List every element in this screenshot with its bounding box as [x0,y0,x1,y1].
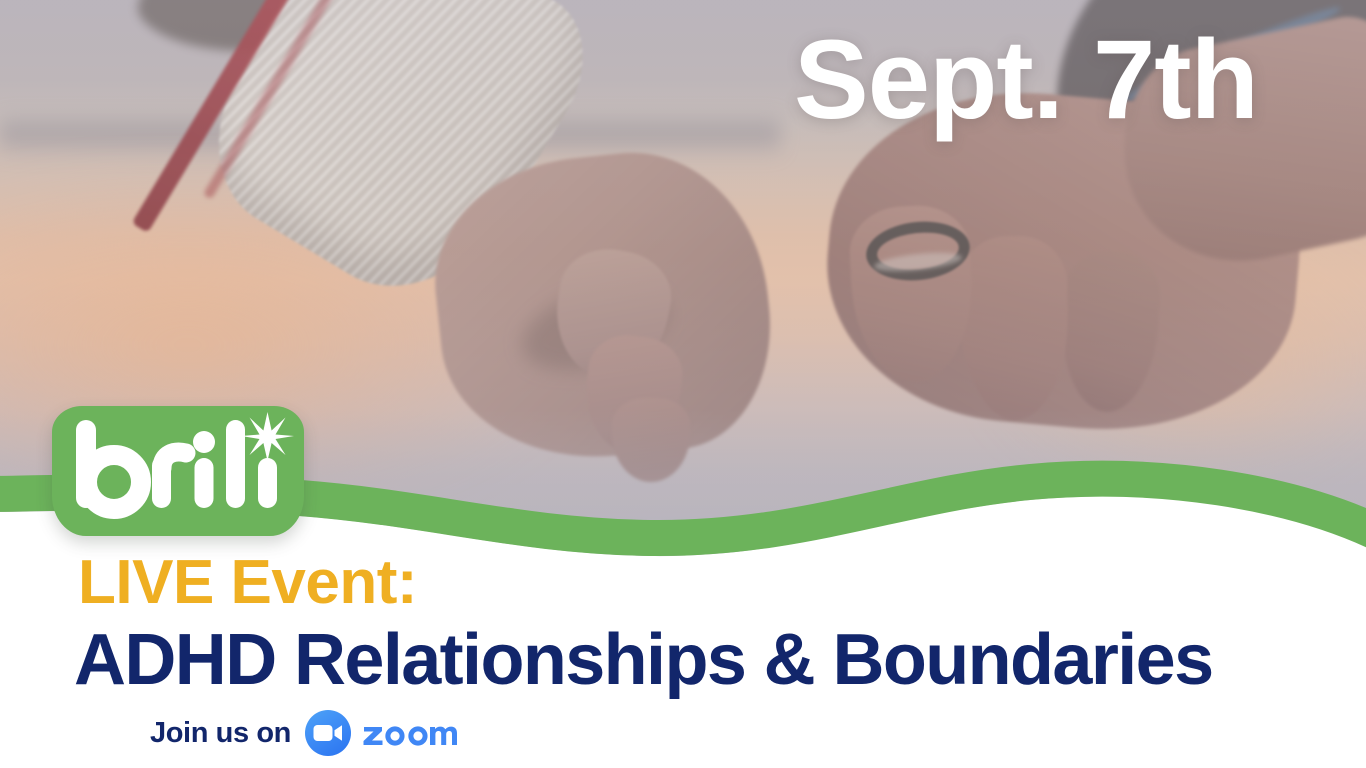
sparkle-star-icon [241,412,294,461]
logo-letter-i2-stem [258,458,277,508]
logo-letter-i1-stem [195,458,214,508]
zoom-letter-o1 [385,726,404,745]
zoom-video-camera-icon [305,710,351,756]
logo-letter-r-shoulder [162,452,186,468]
event-title: ADHD Relationships & Boundaries [74,624,1213,696]
event-eyebrow: LIVE Event: [78,552,417,614]
zoom-letter-z [364,727,383,745]
join-prompt-label: Join us on [150,719,291,748]
zoom-logo[interactable] [305,710,458,756]
logo-letter-b-bowl [87,455,141,509]
zoom-letter-o2 [408,726,427,745]
event-date: Sept. 7th [794,24,1258,136]
zoom-wordmark [362,718,458,748]
logo-letter-i1-dot [193,431,215,453]
logo-letter-l-stem [226,420,245,508]
event-promo-poster: Sept. 7th [0,0,1366,768]
brili-wordmark [52,406,304,536]
join-platform-row[interactable]: Join us on [150,710,458,756]
zoom-letter-m [430,727,457,745]
brili-logo[interactable] [52,406,304,536]
